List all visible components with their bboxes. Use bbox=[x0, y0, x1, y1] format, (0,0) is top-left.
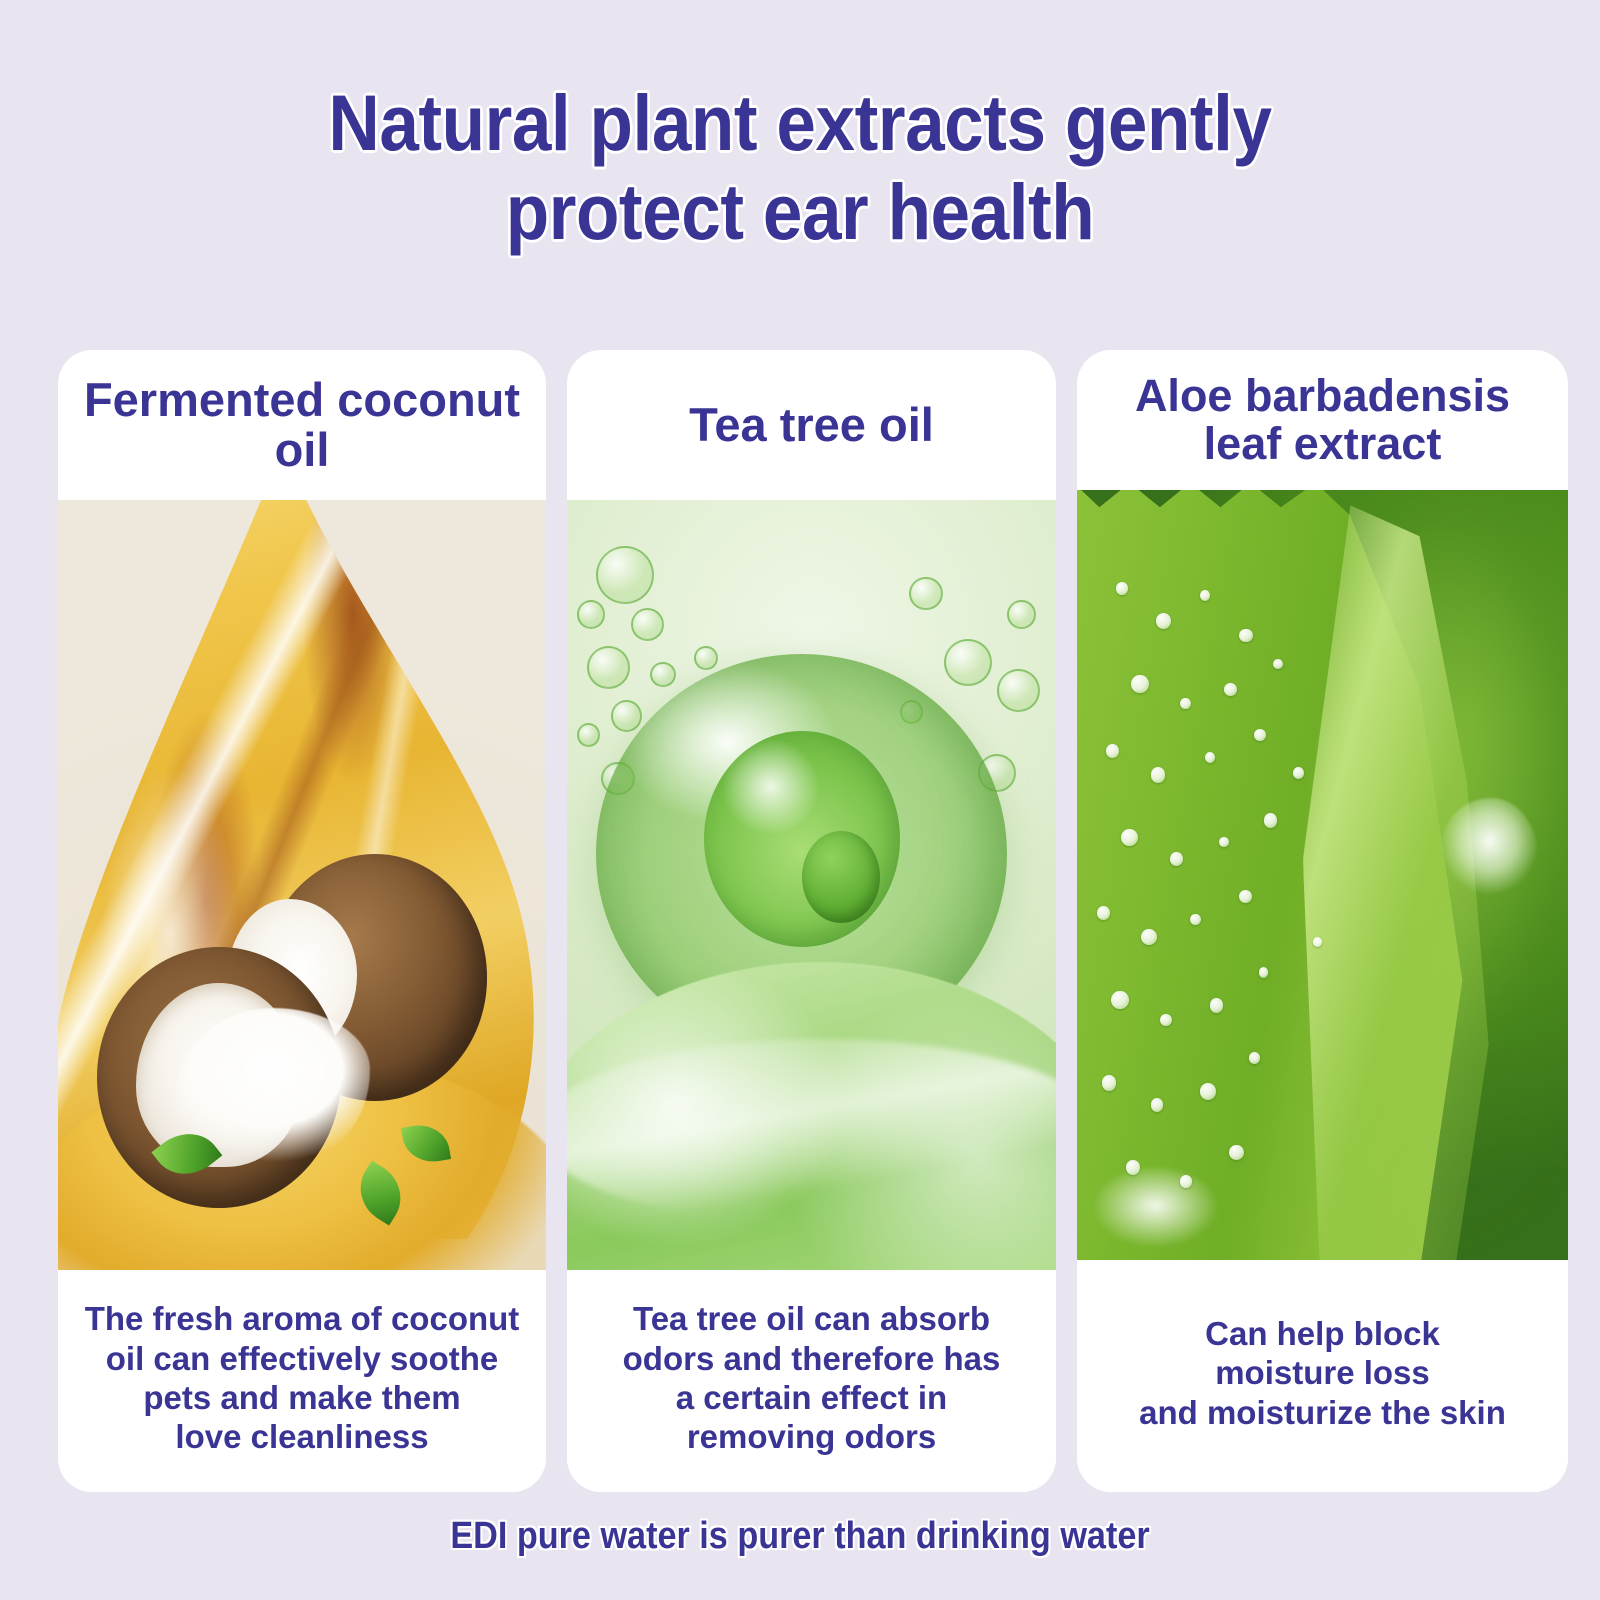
bubble-icon bbox=[611, 700, 642, 732]
aloe-gel-highlight bbox=[1440, 798, 1538, 906]
bubble-icon bbox=[997, 669, 1040, 712]
coconut-oil-artwork bbox=[58, 500, 546, 1270]
water-droplet bbox=[1170, 852, 1183, 866]
aloe-leaf-image bbox=[1077, 490, 1568, 1260]
water-droplet bbox=[1239, 629, 1253, 643]
water-droplet bbox=[1102, 1075, 1117, 1090]
footer-note: EDI pure water is purer than drinking wa… bbox=[80, 1515, 1520, 1558]
ingredient-card-aloe-leaf-extract[interactable]: Aloe barbadensis leaf extract bbox=[1077, 350, 1568, 1492]
water-droplet bbox=[1180, 1175, 1192, 1187]
water-droplet bbox=[1111, 991, 1129, 1009]
water-droplet bbox=[1116, 582, 1128, 594]
water-droplet bbox=[1151, 767, 1166, 782]
card-title-coconut-oil: Fermented coconut oil bbox=[58, 350, 546, 500]
water-droplet bbox=[1200, 1083, 1217, 1100]
card-title-tea-tree-oil: Tea tree oil bbox=[567, 350, 1056, 500]
water-droplet bbox=[1229, 1145, 1244, 1160]
water-droplet bbox=[1160, 1014, 1172, 1026]
tea-tree-oil-image bbox=[567, 500, 1056, 1270]
water-droplet bbox=[1121, 829, 1138, 846]
gel-sphere-inner-large bbox=[704, 731, 900, 947]
coconut-oil-image bbox=[58, 500, 546, 1270]
aloe-gel-drip bbox=[1092, 1168, 1220, 1253]
water-droplet bbox=[1126, 1160, 1140, 1175]
card-caption-coconut-oil: The fresh aroma of coconut oil can effec… bbox=[58, 1270, 546, 1492]
water-droplet bbox=[1224, 683, 1237, 696]
card-caption-aloe-leaf-extract: Can help block moisture loss and moistur… bbox=[1077, 1260, 1568, 1492]
card-caption-tea-tree-oil: Tea tree oil can absorb odors and theref… bbox=[567, 1270, 1056, 1492]
bubble-icon bbox=[577, 723, 601, 747]
water-droplet bbox=[1131, 675, 1149, 693]
card-title-aloe-leaf-extract: Aloe barbadensis leaf extract bbox=[1077, 350, 1568, 490]
ingredient-card-list: Fermented coconut oil The fresh aroma of… bbox=[58, 350, 1568, 1492]
water-droplet bbox=[1249, 1052, 1260, 1064]
bubble-icon bbox=[596, 546, 654, 604]
gel-swirl-highlight bbox=[567, 1039, 1056, 1224]
bubble-icon bbox=[650, 662, 676, 688]
ingredient-card-coconut-oil[interactable]: Fermented coconut oil The fresh aroma of… bbox=[58, 350, 546, 1492]
bubble-icon bbox=[909, 577, 942, 610]
water-droplet bbox=[1200, 590, 1210, 601]
tea-tree-oil-artwork bbox=[567, 500, 1056, 1270]
aloe-leaf-artwork bbox=[1077, 490, 1568, 1260]
page-title: Natural plant extracts gently protect ea… bbox=[80, 78, 1520, 257]
water-droplet bbox=[1190, 914, 1201, 926]
bubble-icon bbox=[694, 646, 718, 670]
ingredient-card-tea-tree-oil[interactable]: Tea tree oil bbox=[567, 350, 1056, 1492]
bubble-icon bbox=[577, 600, 605, 629]
water-droplet bbox=[1293, 767, 1304, 779]
water-droplet bbox=[1254, 729, 1266, 741]
gel-sphere-inner-small bbox=[802, 831, 880, 923]
bubble-icon bbox=[631, 608, 664, 641]
bubble-icon bbox=[944, 639, 992, 686]
water-droplet bbox=[1210, 998, 1224, 1013]
water-droplet bbox=[1141, 929, 1157, 945]
bubble-icon bbox=[1007, 600, 1035, 629]
bubble-icon bbox=[587, 646, 630, 689]
